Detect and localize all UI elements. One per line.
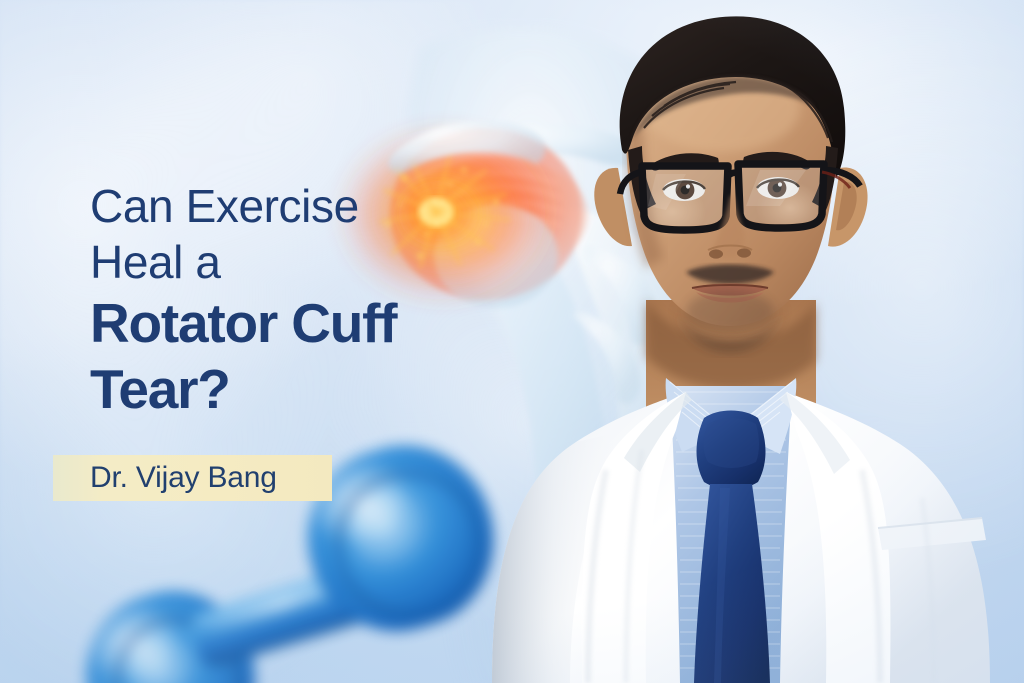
byline-name: Dr. Vijay Bang: [90, 461, 277, 495]
headline-block: Can Exercise Heal a Rotator Cuff Tear?: [90, 178, 520, 422]
headline-line-2: Heal a: [90, 234, 520, 290]
headline-line-3: Rotator Cuff: [90, 290, 520, 356]
promo-poster: Can Exercise Heal a Rotator Cuff Tear? D…: [0, 0, 1024, 683]
headline-line-1: Can Exercise: [90, 178, 520, 234]
headline-line-4: Tear?: [90, 356, 520, 422]
